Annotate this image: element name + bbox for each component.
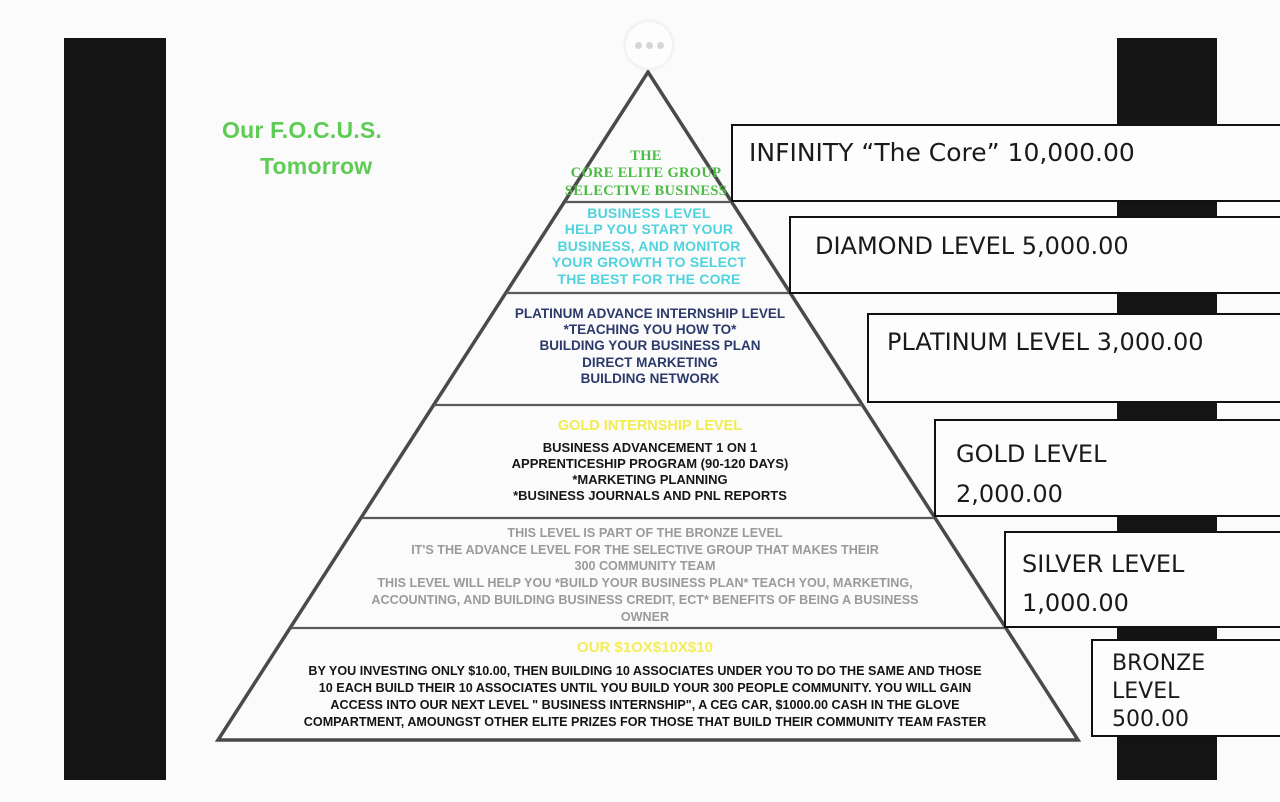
label-box-gold: GOLD LEVEL 2,000.00 — [934, 419, 1280, 517]
tier-diamond-line-2: HELP YOU START YOUR — [490, 221, 808, 237]
tier-gold-line-1: BUSINESS ADVANCEMENT 1 ON 1 — [400, 440, 900, 456]
slide-canvas: Our F.O.C.U.S. Tomorrow THE CORE ELITE G… — [0, 0, 1280, 802]
label-silver-line-2: 1,000.00 — [1022, 584, 1280, 623]
tier-silver-line-5: ACCOUNTING, AND BUILDING BUSINESS CREDIT… — [300, 592, 990, 609]
page-title: Our F.O.C.U.S. Tomorrow — [222, 112, 462, 184]
dot-1 — [635, 42, 642, 49]
tier-text-bronze: OUR $1OX$10X$10 BY YOU INVESTING ONLY $1… — [250, 638, 1040, 731]
label-box-bronze: BRONZE LEVEL 500.00 — [1091, 639, 1280, 737]
tier-silver-line-3: 300 COMMUNITY TEAM — [300, 558, 990, 575]
label-gold-line-2: 2,000.00 — [956, 475, 1280, 515]
tier-bronze-title: OUR $1OX$10X$10 — [250, 638, 1040, 658]
label-box-platinum: PLATINUM LEVEL 3,000.00 — [867, 313, 1280, 403]
tier-text-gold: GOLD INTERNSHIP LEVEL BUSINESS ADVANCEME… — [400, 418, 900, 504]
label-bronze-line-2: LEVEL — [1112, 678, 1280, 706]
label-bronze-line-3: 500.00 — [1112, 706, 1280, 734]
label-bronze-line-1: BRONZE — [1112, 650, 1280, 678]
tier-platinum-line-1: PLATINUM ADVANCE INTERNSHIP LEVEL — [440, 306, 860, 322]
label-box-silver: SILVER LEVEL 1,000.00 — [1004, 531, 1280, 628]
tier-text-diamond: BUSINESS LEVEL HELP YOU START YOUR BUSIN… — [490, 205, 808, 287]
tier-diamond-line-1: BUSINESS LEVEL — [490, 205, 808, 221]
page-title-line-2: Tomorrow — [222, 148, 462, 184]
tier-gold-line-2: APPRENTICESHIP PROGRAM (90-120 DAYS) — [400, 456, 900, 472]
tier-diamond-line-5: THE BEST FOR THE CORE — [490, 271, 808, 287]
tier-bronze-line-3: ACCESS INTO OUR NEXT LEVEL " BUSINESS IN… — [250, 697, 1040, 714]
tier-gold-line-3: *MARKETING PLANNING — [400, 472, 900, 488]
tier-platinum-line-4: DIRECT MARKETING — [440, 355, 860, 371]
label-silver-line-1: SILVER LEVEL — [1022, 545, 1280, 584]
label-gold-line-1: GOLD LEVEL — [956, 435, 1280, 475]
label-infinity-line-1: INFINITY “The Core” 10,000.00 — [749, 138, 1280, 167]
tier-text-platinum: PLATINUM ADVANCE INTERNSHIP LEVEL *TEACH… — [440, 306, 860, 387]
tier-silver-line-2: IT'S THE ADVANCE LEVEL FOR THE SELECTIVE… — [300, 542, 990, 559]
tier-silver-line-1: THIS LEVEL IS PART OF THE BRONZE LEVEL — [300, 525, 990, 542]
label-diamond-line-1: DIAMOND LEVEL 5,000.00 — [815, 232, 1280, 260]
tier-diamond-line-4: YOUR GROWTH TO SELECT — [490, 254, 808, 270]
tier-gold-line-4: *BUSINESS JOURNALS AND PNL REPORTS — [400, 488, 900, 504]
tier-diamond-line-3: BUSINESS, AND MONITOR — [490, 238, 808, 254]
tier-bronze-line-2: 10 EACH BUILD THEIR 10 ASSOCIATES UNTIL … — [250, 680, 1040, 697]
page-title-line-1: Our F.O.C.U.S. — [222, 117, 382, 143]
tier-gold-title: GOLD INTERNSHIP LEVEL — [400, 418, 900, 436]
dot-3 — [657, 42, 664, 49]
label-box-infinity: INFINITY “The Core” 10,000.00 — [731, 124, 1280, 202]
dot-2 — [646, 42, 653, 49]
tier-bronze-line-4: COMPARTMENT, AMOUNGST OTHER ELITE PRIZES… — [250, 714, 1040, 731]
tier-platinum-line-3: BUILDING YOUR BUSINESS PLAN — [440, 338, 860, 354]
tier-text-silver: THIS LEVEL IS PART OF THE BRONZE LEVEL I… — [300, 525, 990, 625]
more-options-icon[interactable] — [624, 20, 674, 70]
label-box-diamond: DIAMOND LEVEL 5,000.00 — [789, 216, 1280, 294]
tier-silver-line-4: THIS LEVEL WILL HELP YOU *BUILD YOUR BUS… — [300, 575, 990, 592]
label-platinum-line-1: PLATINUM LEVEL 3,000.00 — [887, 328, 1280, 356]
tier-silver-line-6: OWNER — [300, 609, 990, 626]
tier-bronze-line-1: BY YOU INVESTING ONLY $10.00, THEN BUILD… — [250, 663, 1040, 680]
left-dark-panel — [64, 38, 166, 780]
tier-platinum-line-2: *TEACHING YOU HOW TO* — [440, 322, 860, 338]
tier-platinum-line-5: BUILDING NETWORK — [440, 371, 860, 387]
